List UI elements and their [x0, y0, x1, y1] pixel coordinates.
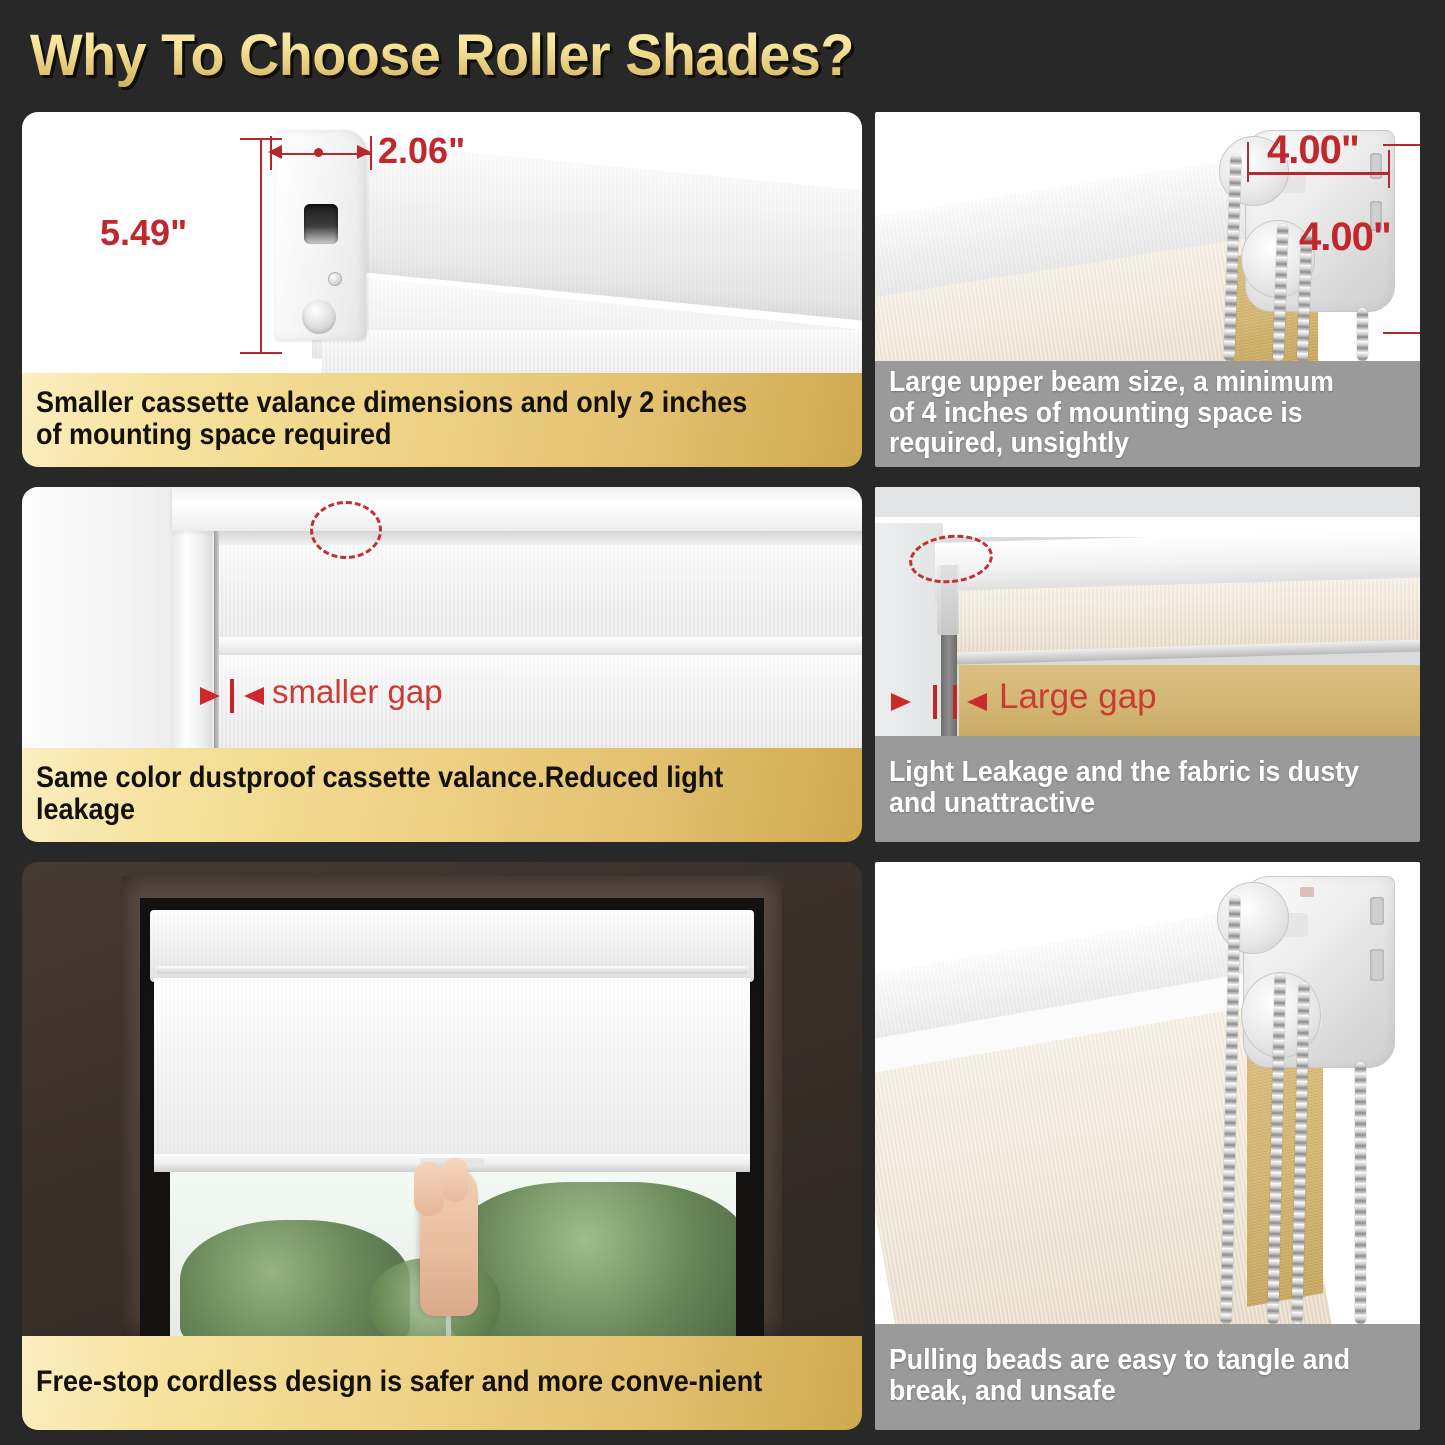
panel-5-caption: Free-stop cordless design is safer and m… — [22, 1336, 862, 1430]
gap-marker-bar — [230, 679, 234, 713]
panel-3[interactable]: smaller gap Same color dustproof cassett… — [22, 487, 862, 842]
panel-1-image: 2.06" 5.49" — [22, 112, 862, 373]
bead-chain-4 — [1355, 1062, 1366, 1324]
bracket-pink-marker — [1300, 887, 1314, 897]
gap-arrow-right-icon — [244, 687, 264, 705]
panel-6-caption-text: Pulling beads are easy to tangle and bre… — [889, 1345, 1365, 1406]
shade-fabric — [154, 978, 750, 1164]
valance-end-cap — [274, 130, 366, 340]
window-casing-top — [172, 487, 862, 531]
page-header: Why To Choose Roller Shades? Why To Choo… — [0, 0, 1445, 108]
hand-fingers — [442, 1158, 468, 1202]
end-cap-slot — [304, 204, 338, 244]
bead-chain-4 — [1357, 308, 1368, 361]
cassette-valance — [150, 910, 754, 982]
dim2-height-label: 4.00" — [1299, 215, 1391, 260]
dim-width-arrow-right — [357, 145, 371, 159]
dim2-w-tick-l — [1247, 142, 1249, 182]
dim-width-label: 2.06" — [378, 130, 465, 172]
gap-marker-bar-left — [933, 685, 937, 719]
panel-4-image: Large gap — [875, 487, 1420, 736]
panel-5-caption-text: Free-stop cordless design is safer and m… — [36, 1366, 767, 1398]
end-cap-knob — [302, 300, 336, 334]
dim-width-arrow-left — [268, 145, 282, 159]
dim-height-tick-bottom — [240, 352, 282, 354]
bracket-slot-lower — [1370, 949, 1384, 981]
dim-width-line — [274, 153, 370, 155]
panel-3-caption-text: Same color dustproof cassette valance.Re… — [36, 762, 767, 826]
panel-3-caption: Same color dustproof cassette valance.Re… — [22, 748, 862, 842]
dim2-w-tick-r — [1388, 150, 1390, 188]
dim-height-tick-top — [240, 138, 282, 140]
panel-4[interactable]: Large gap Light Leakage and the fabric i… — [875, 487, 1420, 842]
valance-lip — [156, 966, 748, 974]
gap-arrow-left-icon — [200, 687, 220, 705]
gap-callout-label: smaller gap — [272, 673, 443, 711]
panel-4-caption-text: Light Leakage and the fabric is dusty an… — [889, 757, 1365, 818]
dim-height-line — [260, 138, 262, 354]
hand-thumb — [414, 1162, 444, 1216]
panel-3-image: smaller gap — [22, 487, 862, 748]
panel-6-image — [875, 862, 1420, 1324]
panel-1-caption: Smaller cassette valance dimensions and … — [22, 373, 862, 467]
page-title: Why To Choose Roller Shades? — [30, 22, 854, 89]
window-wall-left — [22, 487, 182, 748]
hanging-fabric — [322, 330, 862, 373]
gap-callout-label: Large gap — [999, 677, 1157, 717]
panel-2-caption-text: Large upper beam size, a minimum of 4 in… — [889, 367, 1365, 459]
panel-1-caption-text: Smaller cassette valance dimensions and … — [36, 387, 767, 451]
gap-arrow-left-icon — [891, 693, 911, 711]
side-gap-shadow — [214, 531, 219, 748]
panel-6-caption: Pulling beads are easy to tangle and bre… — [875, 1324, 1420, 1430]
panel-2-caption: Large upper beam size, a minimum of 4 in… — [875, 361, 1420, 467]
shade-fabric-upper — [218, 545, 862, 643]
highlight-circle-icon — [310, 501, 382, 559]
dim2-h-tick-b — [1383, 332, 1420, 334]
panel-1[interactable]: 2.06" 5.49" Smaller cassette valance dim… — [22, 112, 862, 467]
panel-6[interactable]: Pulling beads are easy to tangle and bre… — [875, 862, 1420, 1430]
gap-marker-bar-right — [953, 685, 957, 719]
panel-5-image — [22, 862, 862, 1336]
panel-5[interactable]: Free-stop cordless design is safer and m… — [22, 862, 862, 1430]
dim-height-label: 5.49" — [100, 212, 187, 254]
bracket-slot-upper — [1370, 153, 1382, 179]
bracket-slot-upper — [1370, 897, 1384, 925]
gap-arrow-right-icon — [967, 693, 987, 711]
panel-2[interactable]: 4.00" 4.00" Large upper beam size, a min… — [875, 112, 1420, 467]
dim2-width-label: 4.00" — [1267, 128, 1359, 173]
dim2-h-tick-t — [1383, 144, 1420, 146]
panel-4-caption: Light Leakage and the fabric is dusty an… — [875, 736, 1420, 842]
panel-2-image: 4.00" 4.00" — [875, 112, 1420, 361]
end-cap-screw — [328, 272, 342, 286]
